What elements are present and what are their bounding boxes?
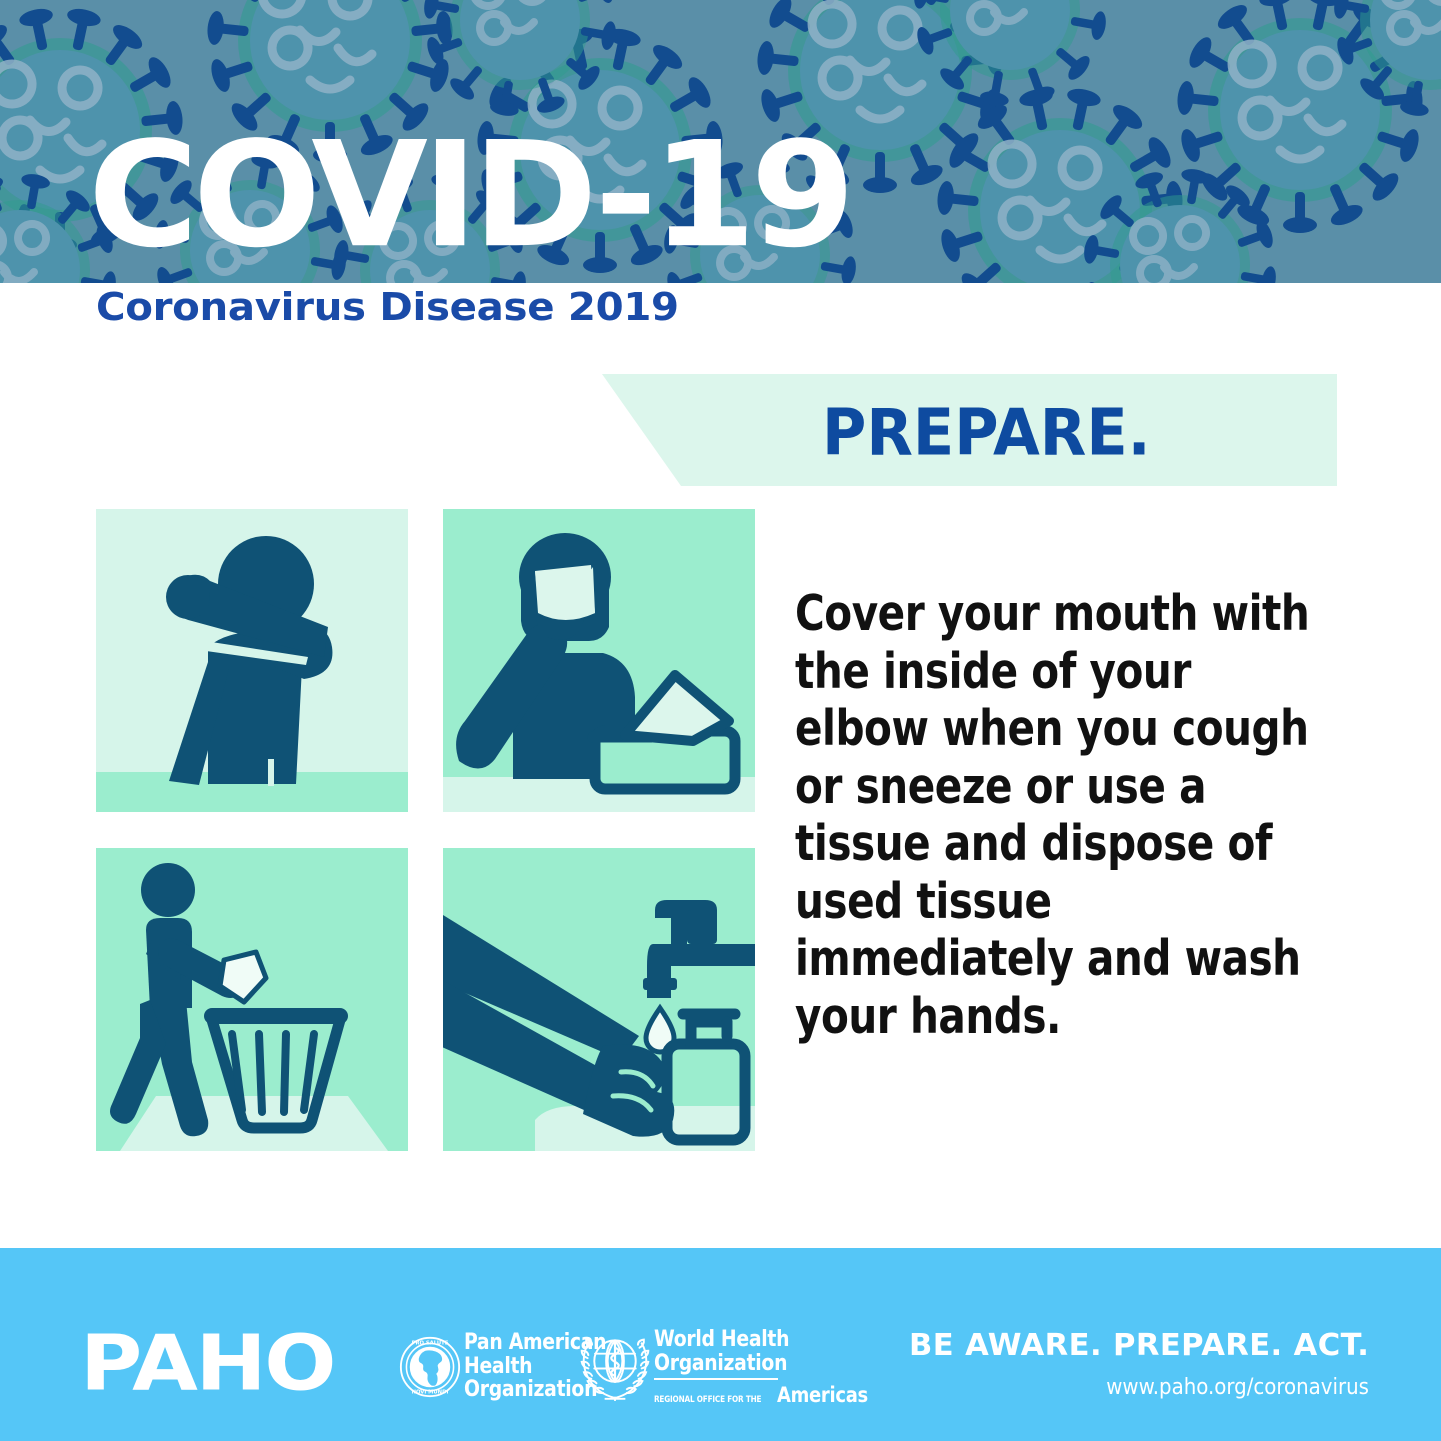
who-lockup-line-2: Organization [654,1352,844,1376]
who-region-prefix: REGIONAL OFFICE FOR THE [654,1395,761,1405]
cough-into-elbow-icon [96,509,408,812]
panel-cough-into-tissue [443,509,755,812]
prepare-banner: PREPARE. [602,374,1337,486]
who-region-row: REGIONAL OFFICE FOR THE Americas [654,1383,854,1407]
who-lockup: World Health Organization REGIONAL OFFIC… [654,1328,854,1407]
page-subtitle: Coronavirus Disease 2019 [96,288,679,326]
who-region-name: Americas [777,1383,868,1407]
panel-wash-hands [443,848,755,1151]
panel-dispose-tissue [96,848,408,1151]
wash-hands-icon [443,848,755,1151]
paho-wordmark: PAHO [80,1325,334,1401]
who-lockup-divider [654,1378,778,1380]
cough-into-tissue-icon [443,509,755,812]
paho-emblem-motto-bottom: NOVI MUNDI [412,1390,449,1396]
paho-globe-emblem-icon: PRO SALUTE NOVI MUNDI [399,1336,461,1398]
page-title: COVID-19 [88,122,850,268]
pictogram-grid [96,509,755,1151]
dispose-tissue-in-bin-icon [96,848,408,1151]
who-lockup-line-1: World Health [654,1328,844,1352]
prepare-banner-label: PREPARE. [822,396,1151,471]
paho-emblem-motto-top: PRO SALUTE [412,1341,449,1347]
instruction-text: Cover your mouth with the inside of your… [795,585,1319,1046]
poster-root: COVID-19 Coronavirus Disease 2019 PREPAR… [0,0,1441,1441]
footer-url[interactable]: www.paho.org/coronavirus [1106,1375,1369,1400]
footer-tagline: BE AWARE. PREPARE. ACT. [909,1328,1369,1363]
who-laurel-emblem-icon [578,1330,652,1404]
panel-cough-into-elbow [96,509,408,812]
